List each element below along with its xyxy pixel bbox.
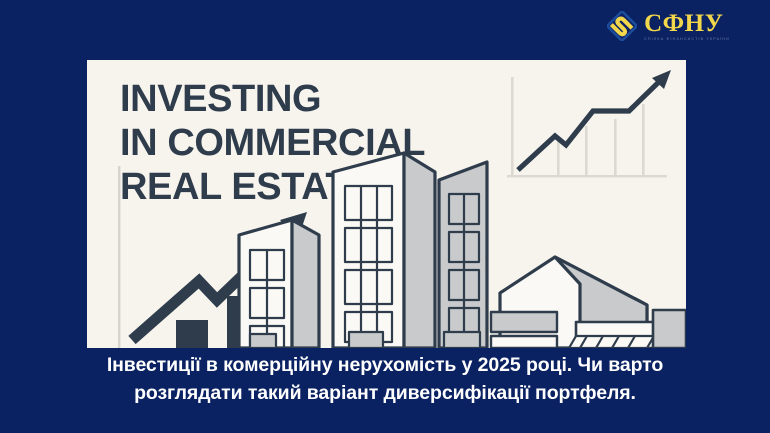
article-hero-image: INVESTING IN COMMERCIAL REAL ESTATE (87, 60, 686, 348)
rhombus-logo-icon (607, 11, 637, 41)
article-caption: Інвестиції в комерційну нерухомість у 20… (0, 352, 770, 408)
brand-title: СФНУ (644, 11, 730, 36)
brand-subtitle: СПІЛКА ФІНАНСИСТІВ УКРАЇНИ (644, 38, 730, 42)
caption-line-1: Інвестиції в комерційну нерухомість у 20… (14, 352, 756, 380)
headline-line-1: INVESTING (120, 78, 321, 120)
brand-text: СФНУ СПІЛКА ФІНАНСИСТІВ УКРАЇНИ (644, 11, 730, 42)
site-logo[interactable]: СФНУ СПІЛКА ФІНАНСИСТІВ УКРАЇНИ (607, 9, 730, 43)
bar-1 (176, 320, 208, 348)
caption-line-2: розглядати такий варіант диверсифікації … (14, 380, 756, 408)
headline-line-2: IN COMMERCIAL (120, 122, 425, 164)
